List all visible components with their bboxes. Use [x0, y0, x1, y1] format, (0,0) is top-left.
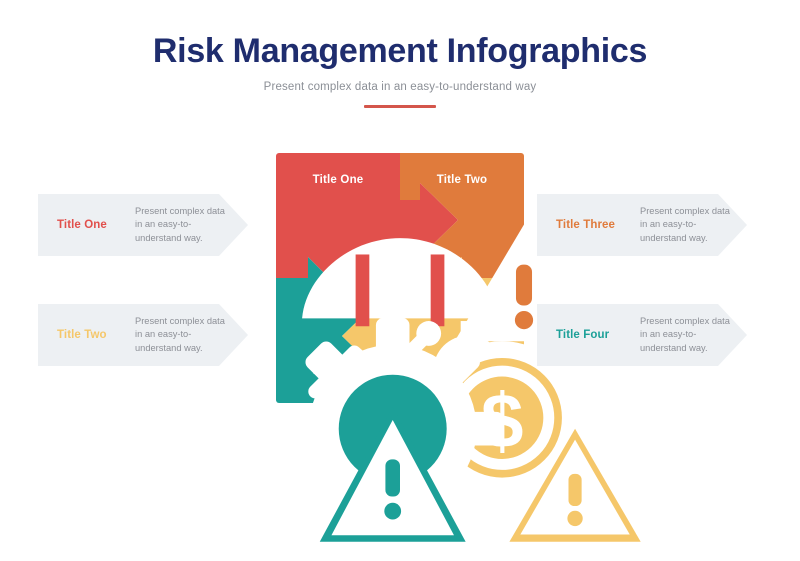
callout-three[interactable]: Title Three Present complex data in an e… — [537, 194, 747, 256]
title-underline-accent — [364, 105, 436, 108]
callout-three-description: Present complex data in an easy-to-under… — [640, 205, 732, 245]
callout-two-title: Title Two — [57, 329, 135, 341]
gear-warning-icon — [276, 311, 400, 561]
callout-two[interactable]: Title Two Present complex data in an eas… — [38, 304, 248, 366]
callout-four-title: Title Four — [556, 329, 640, 341]
callout-four-description: Present complex data in an easy-to-under… — [640, 315, 732, 355]
callout-one-title: Title One — [57, 219, 135, 231]
header: Risk Management Infographics Present com… — [0, 0, 800, 108]
callout-four[interactable]: Title Four Present complex data in an ea… — [537, 304, 747, 366]
callout-three-title: Title Three — [556, 219, 640, 231]
callout-one-description: Present complex data in an easy-to-under… — [135, 205, 231, 245]
page-subtitle: Present complex data in an easy-to-under… — [0, 70, 800, 93]
risk-cycle-diagram: Title One Title Two Title Three Title Fo… — [276, 153, 524, 403]
quadrant-label-two: Title Two — [400, 174, 524, 186]
callout-one[interactable]: Title One Present complex data in an eas… — [38, 194, 248, 256]
quadrant-label-one: Title One — [276, 174, 400, 186]
page-title: Risk Management Infographics — [0, 0, 800, 70]
callout-two-description: Present complex data in an easy-to-under… — [135, 315, 231, 355]
